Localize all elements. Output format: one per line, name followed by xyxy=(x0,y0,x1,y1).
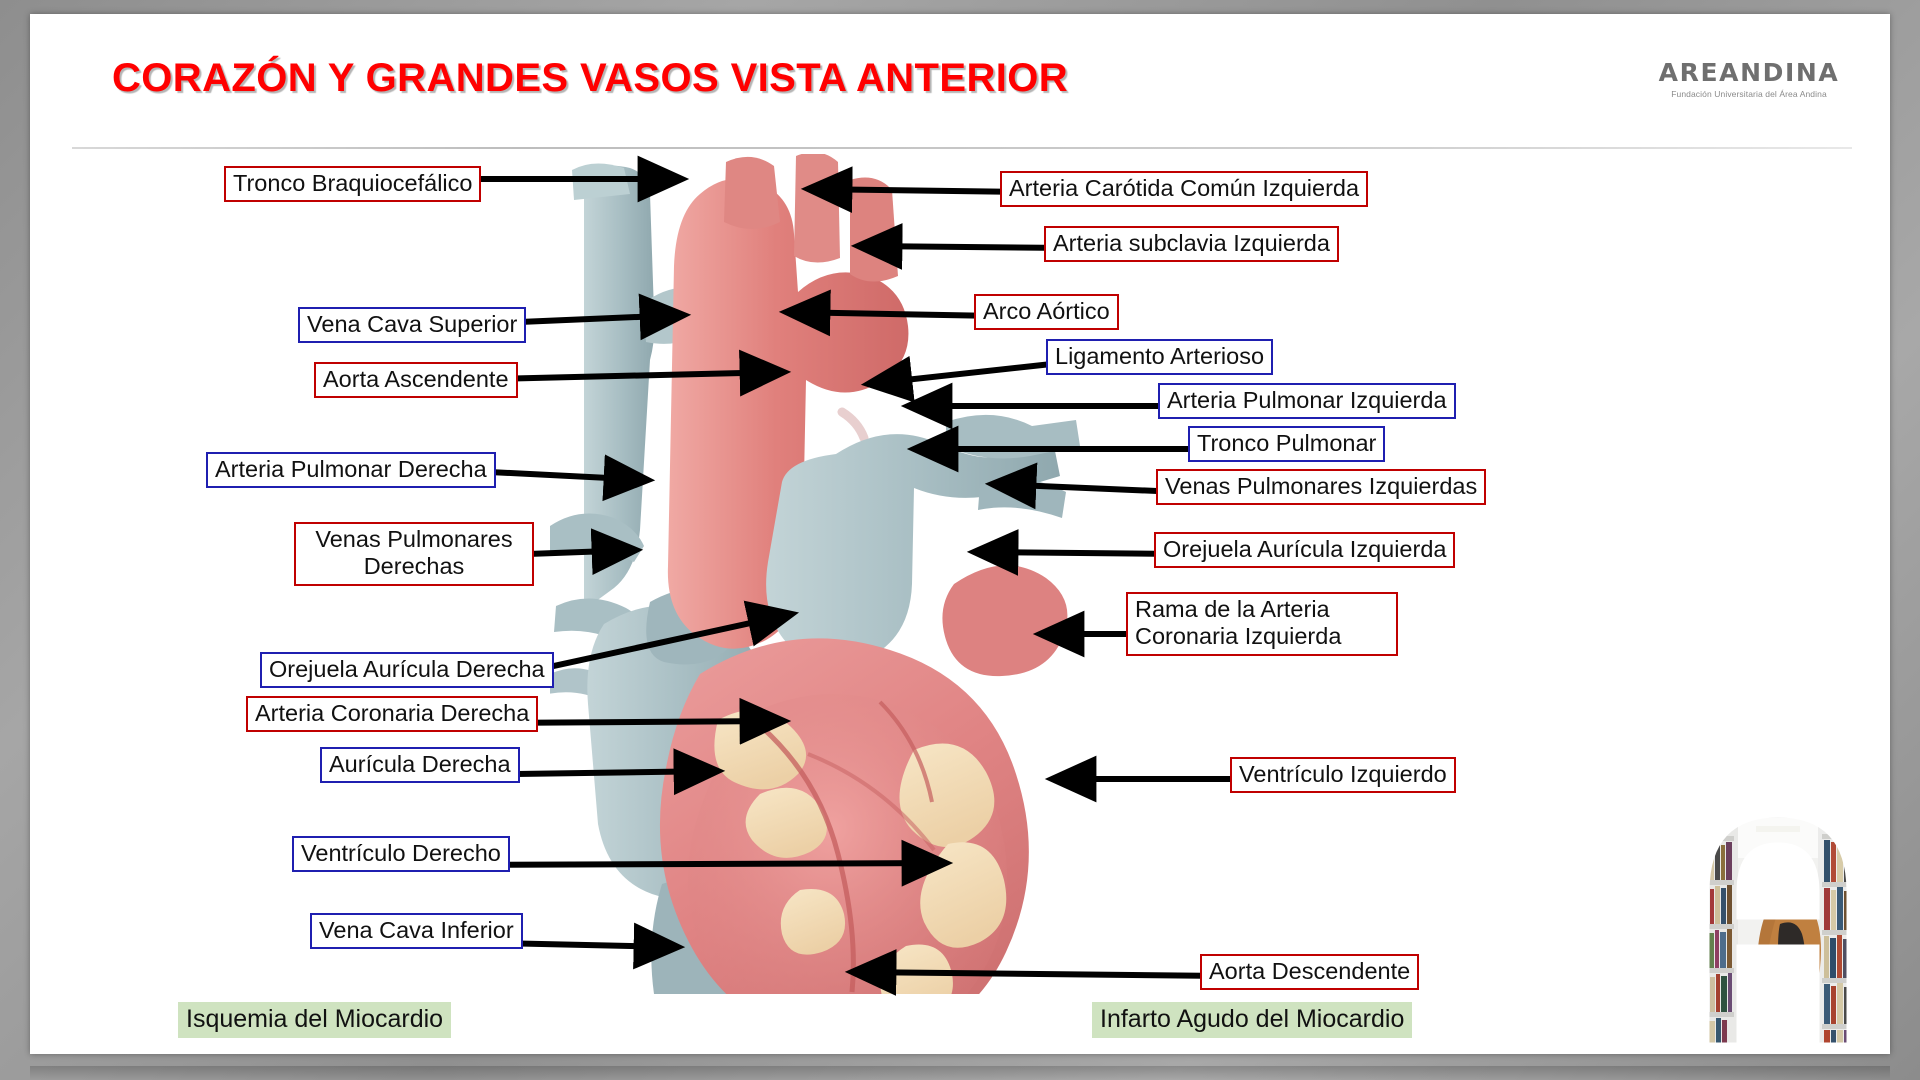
label-arteria-pulmonar-izquierda[interactable]: Arteria Pulmonar Izquierda xyxy=(1158,383,1456,419)
label-line-2: Derechas xyxy=(364,553,465,579)
logo-tagline: Fundación Universitaria del Área Andina xyxy=(1644,89,1854,99)
label-tronco-braquiocefalico[interactable]: Tronco Braquiocefálico xyxy=(224,166,481,202)
slide-canvas: CORAZÓN Y GRANDES VASOS VISTA ANTERIOR A… xyxy=(30,14,1890,1054)
heart-illustration xyxy=(550,154,1170,994)
highlight-infarto-agudo-del-miocardio[interactable]: Infarto Agudo del Miocardio xyxy=(1092,1002,1412,1038)
highlight-isquemia-del-miocardio[interactable]: Isquemia del Miocardio xyxy=(178,1002,451,1038)
slide-background: CORAZÓN Y GRANDES VASOS VISTA ANTERIOR A… xyxy=(0,0,1920,1080)
label-tronco-pulmonar[interactable]: Tronco Pulmonar xyxy=(1188,426,1385,462)
label-venas-pulmonares-derechas[interactable]: Venas Pulmonares Derechas xyxy=(294,522,534,586)
label-ventriculo-izquierdo[interactable]: Ventrículo Izquierdo xyxy=(1230,757,1456,793)
slide-footer-shadow xyxy=(30,1066,1890,1080)
label-aorta-descendente[interactable]: Aorta Descendente xyxy=(1200,954,1419,990)
areandina-logo: AREANDINA Fundación Universitaria del Ár… xyxy=(1644,58,1854,99)
label-vena-cava-superior[interactable]: Vena Cava Superior xyxy=(298,307,526,343)
label-arteria-pulmonar-derecha[interactable]: Arteria Pulmonar Derecha xyxy=(206,452,496,488)
label-arco-aortico[interactable]: Arco Aórtico xyxy=(974,294,1119,330)
label-ventriculo-derecho[interactable]: Ventrículo Derecho xyxy=(292,836,510,872)
label-arteria-coronaria-derecha[interactable]: Arteria Coronaria Derecha xyxy=(246,696,538,732)
label-line-1: Rama de la Arteria xyxy=(1135,596,1330,622)
page-title: CORAZÓN Y GRANDES VASOS VISTA ANTERIOR xyxy=(112,56,1068,101)
label-arteria-subclavia-izquierda[interactable]: Arteria subclavia Izquierda xyxy=(1044,226,1339,262)
header-divider xyxy=(72,147,1852,149)
label-vena-cava-inferior[interactable]: Vena Cava Inferior xyxy=(310,913,523,949)
label-line-1: Venas Pulmonares xyxy=(315,526,512,552)
label-aorta-ascendente[interactable]: Aorta Ascendente xyxy=(314,362,518,398)
label-ligamento-arterioso[interactable]: Ligamento Arterioso xyxy=(1046,339,1273,375)
label-arteria-carotida-comun-izquierda[interactable]: Arteria Carótida Común Izquierda xyxy=(1000,171,1368,207)
label-rama-arteria-coronaria-izquierda[interactable]: Rama de la Arteria Coronaria Izquierda xyxy=(1126,592,1398,656)
label-orejuela-auricula-derecha[interactable]: Orejuela Aurícula Derecha xyxy=(260,652,554,688)
label-orejuela-auricula-izquierda[interactable]: Orejuela Aurícula Izquierda xyxy=(1154,532,1455,568)
logo-wordmark: AREANDINA xyxy=(1644,58,1854,87)
library-brandmark-image xyxy=(1672,796,1884,1046)
label-venas-pulmonares-izquierdas[interactable]: Venas Pulmonares Izquierdas xyxy=(1156,469,1486,505)
label-auricula-derecha[interactable]: Aurícula Derecha xyxy=(320,747,520,783)
label-line-2: Coronaria Izquierda xyxy=(1135,623,1341,649)
